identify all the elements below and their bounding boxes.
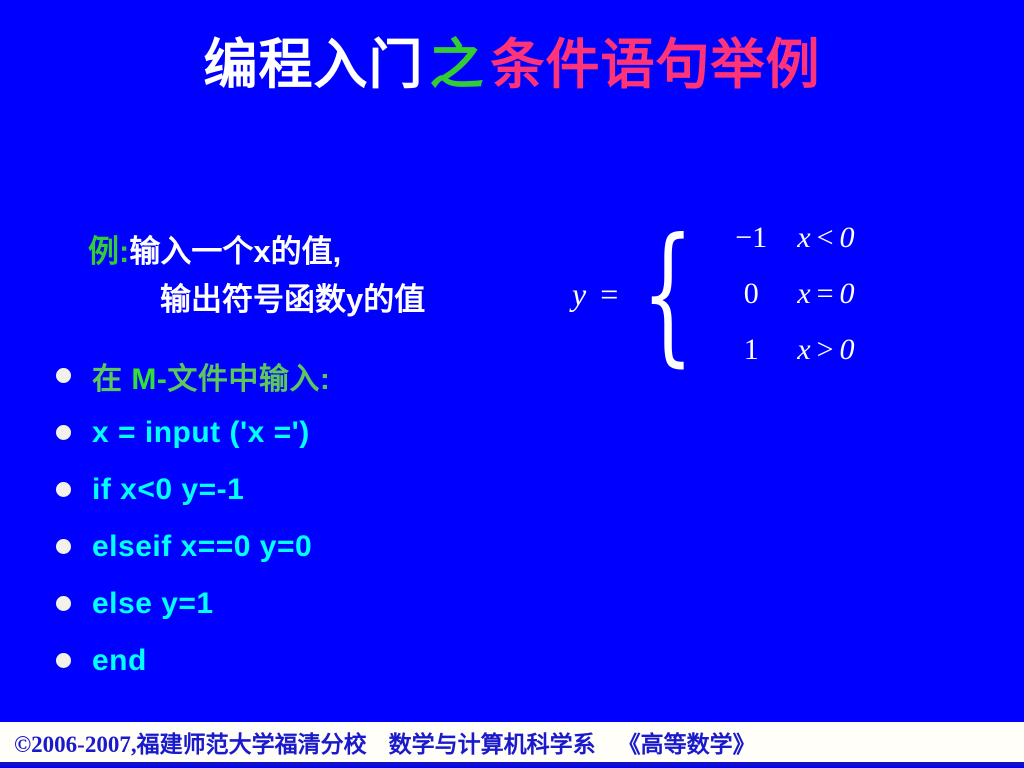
example-block: 例:输入一个x的值, 输出符号函数y的值	[88, 228, 425, 324]
bullet-dot-icon	[56, 596, 71, 611]
footer-text: ©2006-2007,福建师范大学福清分校数学与计算机科学系《高等数学》	[0, 725, 756, 759]
formula-lhs: y =	[572, 276, 626, 313]
formula-case-value: 1	[705, 322, 797, 378]
list-item: if x<0 y=-1	[56, 461, 330, 518]
formula-case-row: 1 x>0	[705, 322, 856, 378]
formula-case-value: −1	[705, 210, 797, 266]
formula-case-rhs: 0	[839, 333, 856, 366]
formula-case-condition: x>0	[797, 322, 856, 378]
formula-case-row: −1 x<0	[705, 210, 856, 266]
bullet-dot-icon	[56, 653, 71, 668]
title-segment-white: 编程入门	[204, 35, 424, 95]
formula-cases: −1 x<0 0 x=0 1 x>0	[705, 210, 856, 378]
bullet-dot-icon	[56, 368, 71, 383]
footer-copyright: ©2006-2007,	[14, 732, 137, 757]
formula-case-operator: <	[813, 221, 840, 254]
example-text-2: 输出符号函数y的值	[160, 282, 425, 317]
example-line-1: 例:输入一个x的值,	[88, 228, 425, 276]
bullet-dot-icon	[56, 425, 71, 440]
list-item: x = input ('x =')	[56, 404, 330, 461]
example-line-2: 输出符号函数y的值	[160, 276, 425, 324]
page-title: 编程入门之条件语句举例	[0, 30, 1024, 100]
bullet-text-2: if x<0 y=-1	[92, 473, 244, 507]
bullet-prefix: 在	[92, 363, 131, 396]
footer-course: 《高等数学》	[618, 732, 756, 757]
footer-department: 数学与计算机科学系	[389, 732, 596, 757]
formula-case-operator: =	[813, 277, 840, 310]
example-text-1: 输入一个x的值,	[129, 234, 341, 269]
bullet-text-1: x = input ('x =')	[92, 416, 310, 450]
bullet-dot-icon	[56, 482, 71, 497]
bullet-list: 在 M-文件中输入: x = input ('x =') if x<0 y=-1…	[56, 347, 330, 689]
bullet-highlight: M-	[131, 363, 167, 396]
formula-brace: {	[641, 228, 693, 360]
bullet-text-5: end	[92, 644, 147, 678]
list-item: 在 M-文件中输入:	[56, 347, 330, 404]
formula-case-value: 0	[705, 266, 797, 322]
footer-institution: 福建师范大学福清分校	[137, 732, 367, 757]
list-item: end	[56, 632, 330, 689]
formula-case-var: x	[797, 277, 812, 310]
formula-case-operator: >	[813, 333, 840, 366]
example-label: 例:	[88, 234, 129, 269]
formula-case-condition: x<0	[797, 210, 856, 266]
formula-case-var: x	[797, 221, 812, 254]
slide-footer: ©2006-2007,福建师范大学福清分校数学与计算机科学系《高等数学》	[0, 722, 1024, 766]
formula-case-var: x	[797, 333, 812, 366]
bullet-dot-icon	[56, 539, 71, 554]
list-item: elseif x==0 y=0	[56, 518, 330, 575]
title-segment-pink: 条件语句举例	[491, 35, 821, 95]
formula-case-rhs: 0	[839, 221, 856, 254]
bullet-suffix: 文件中输入:	[167, 363, 330, 396]
list-item: else y=1	[56, 575, 330, 632]
slide-canvas: 编程入门之条件语句举例 例:输入一个x的值, 输出符号函数y的值 y = { −…	[0, 0, 1024, 768]
formula-case-row: 0 x=0	[705, 266, 856, 322]
piecewise-formula: y = { −1 x<0 0 x=0 1 x>0	[572, 210, 856, 378]
bullet-text-4: else y=1	[92, 587, 214, 621]
bullet-text-0: 在 M-文件中输入:	[92, 354, 330, 398]
formula-case-condition: x=0	[797, 266, 856, 322]
formula-case-rhs: 0	[839, 277, 856, 310]
bullet-text-3: elseif x==0 y=0	[92, 530, 312, 564]
title-segment-green: 之	[424, 35, 491, 95]
